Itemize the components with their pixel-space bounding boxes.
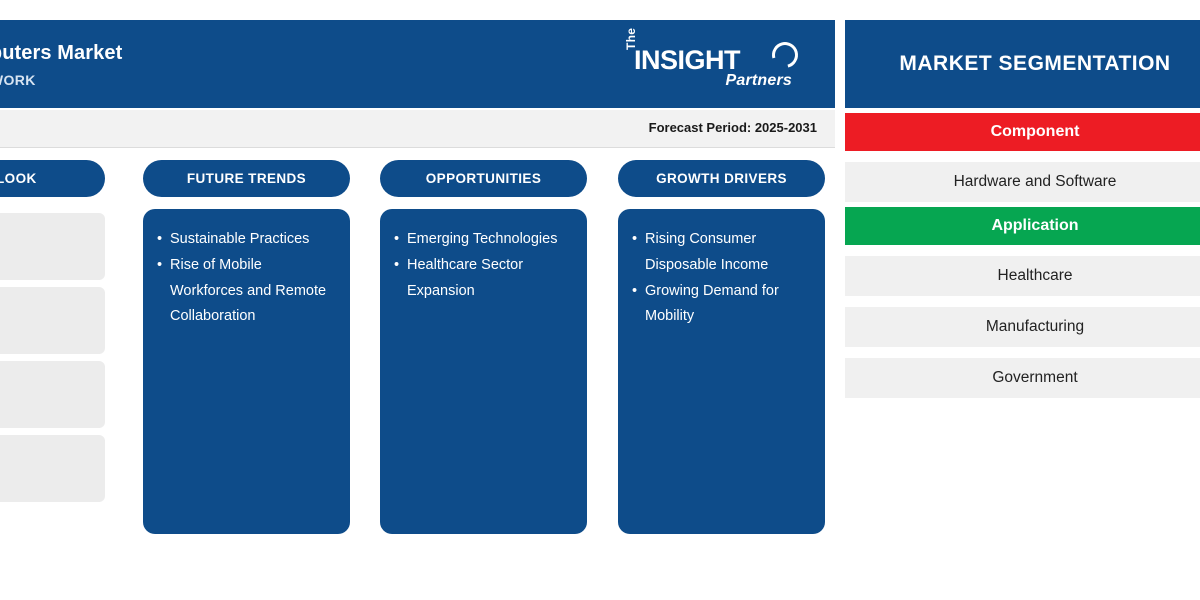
stat-label: Size 2024 (0, 298, 93, 316)
column-future-trends: FUTURE TRENDS Sustainable Practices Rise… (143, 160, 350, 534)
page-title: held Computers Market (0, 42, 122, 65)
column-growth-drivers: GROWTH DRIVERS Rising Consumer Disposabl… (618, 160, 825, 534)
list-item: Emerging Technologies (394, 227, 573, 253)
opportunities-list: Emerging Technologies Healthcare Sector … (394, 227, 573, 304)
card-growth-drivers: Rising Consumer Disposable Income Growin… (618, 209, 825, 534)
stat-value: X million (0, 318, 93, 338)
list-item: Rising Consumer Disposable Income (632, 227, 811, 279)
stat-card-forecast-value: e 2025 - 2031 X Million (0, 361, 105, 428)
logo-partners-text: Partners (725, 72, 792, 90)
infographic-canvas: held Computers Market EGIC FRAMEWORK The… (0, 0, 1200, 600)
card-opportunities: Emerging Technologies Healthcare Sector … (380, 209, 587, 534)
stat-label: y Period (0, 446, 93, 464)
stat-card-historical-period: y Period 1-2023 (0, 435, 105, 502)
forecast-period-label: Forecast Period: 2025-2031 (649, 120, 817, 135)
segmentation-title-application[interactable]: Application (845, 207, 1200, 245)
pill-market-outlook[interactable]: OUTLOOK (0, 160, 105, 197)
logo-insight-text: INSIGHT (634, 45, 740, 76)
list-item: Growing Demand for Mobility (632, 279, 811, 331)
outlook-stat-list: 025 - 2031) .3% Size 2024 X million e 20… (0, 213, 105, 502)
stat-value: 1-2023 (0, 466, 93, 486)
segmentation-title-component[interactable]: Component (845, 113, 1200, 151)
pill-opportunities[interactable]: OPPORTUNITIES (380, 160, 587, 197)
list-item[interactable]: Government (845, 358, 1200, 398)
page-subtitle: EGIC FRAMEWORK (0, 72, 36, 88)
stat-value: .3% (0, 244, 93, 264)
list-item[interactable]: Manufacturing (845, 307, 1200, 347)
growth-drivers-list: Rising Consumer Disposable Income Growin… (632, 227, 811, 330)
stat-value: X Million (0, 392, 93, 412)
list-item[interactable]: Hardware and Software (845, 162, 1200, 202)
columns-area: OUTLOOK 025 - 2031) .3% Size 2024 X mill… (0, 160, 835, 560)
column-market-outlook: OUTLOOK 025 - 2031) .3% Size 2024 X mill… (0, 160, 105, 509)
insight-partners-logo: The INSIGHT Partners (620, 42, 800, 94)
segmentation-block-component: Component Hardware and Software (845, 113, 1200, 202)
future-trends-list: Sustainable Practices Rise of Mobile Wor… (157, 227, 336, 330)
list-item[interactable]: Healthcare (845, 256, 1200, 296)
list-item: Healthcare Sector Expansion (394, 253, 573, 305)
pill-growth-drivers[interactable]: GROWTH DRIVERS (618, 160, 825, 197)
left-panel: held Computers Market EGIC FRAMEWORK The… (0, 20, 835, 580)
stat-card-cagr: 025 - 2031) .3% (0, 213, 105, 280)
card-future-trends: Sustainable Practices Rise of Mobile Wor… (143, 209, 350, 534)
segmentation-header: MARKET SEGMENTATION (845, 20, 1200, 108)
stat-card-market-size-2024: Size 2024 X million (0, 287, 105, 354)
market-segmentation-panel: MARKET SEGMENTATION Component Hardware a… (845, 20, 1200, 398)
info-strip: Data: 2021-2023 Forecast Period: 2025-20… (0, 110, 835, 148)
stat-label: e 2025 - 2031 (0, 372, 93, 390)
header-bar: held Computers Market EGIC FRAMEWORK The… (0, 20, 835, 108)
logo-loop-icon (767, 37, 803, 73)
stat-label: 025 - 2031) (0, 224, 93, 242)
list-item: Sustainable Practices (157, 227, 336, 253)
column-opportunities: OPPORTUNITIES Emerging Technologies Heal… (380, 160, 587, 534)
pill-future-trends[interactable]: FUTURE TRENDS (143, 160, 350, 197)
list-item: Rise of Mobile Workforces and Remote Col… (157, 253, 336, 330)
segmentation-block-application: Application Healthcare Manufacturing Gov… (845, 207, 1200, 398)
